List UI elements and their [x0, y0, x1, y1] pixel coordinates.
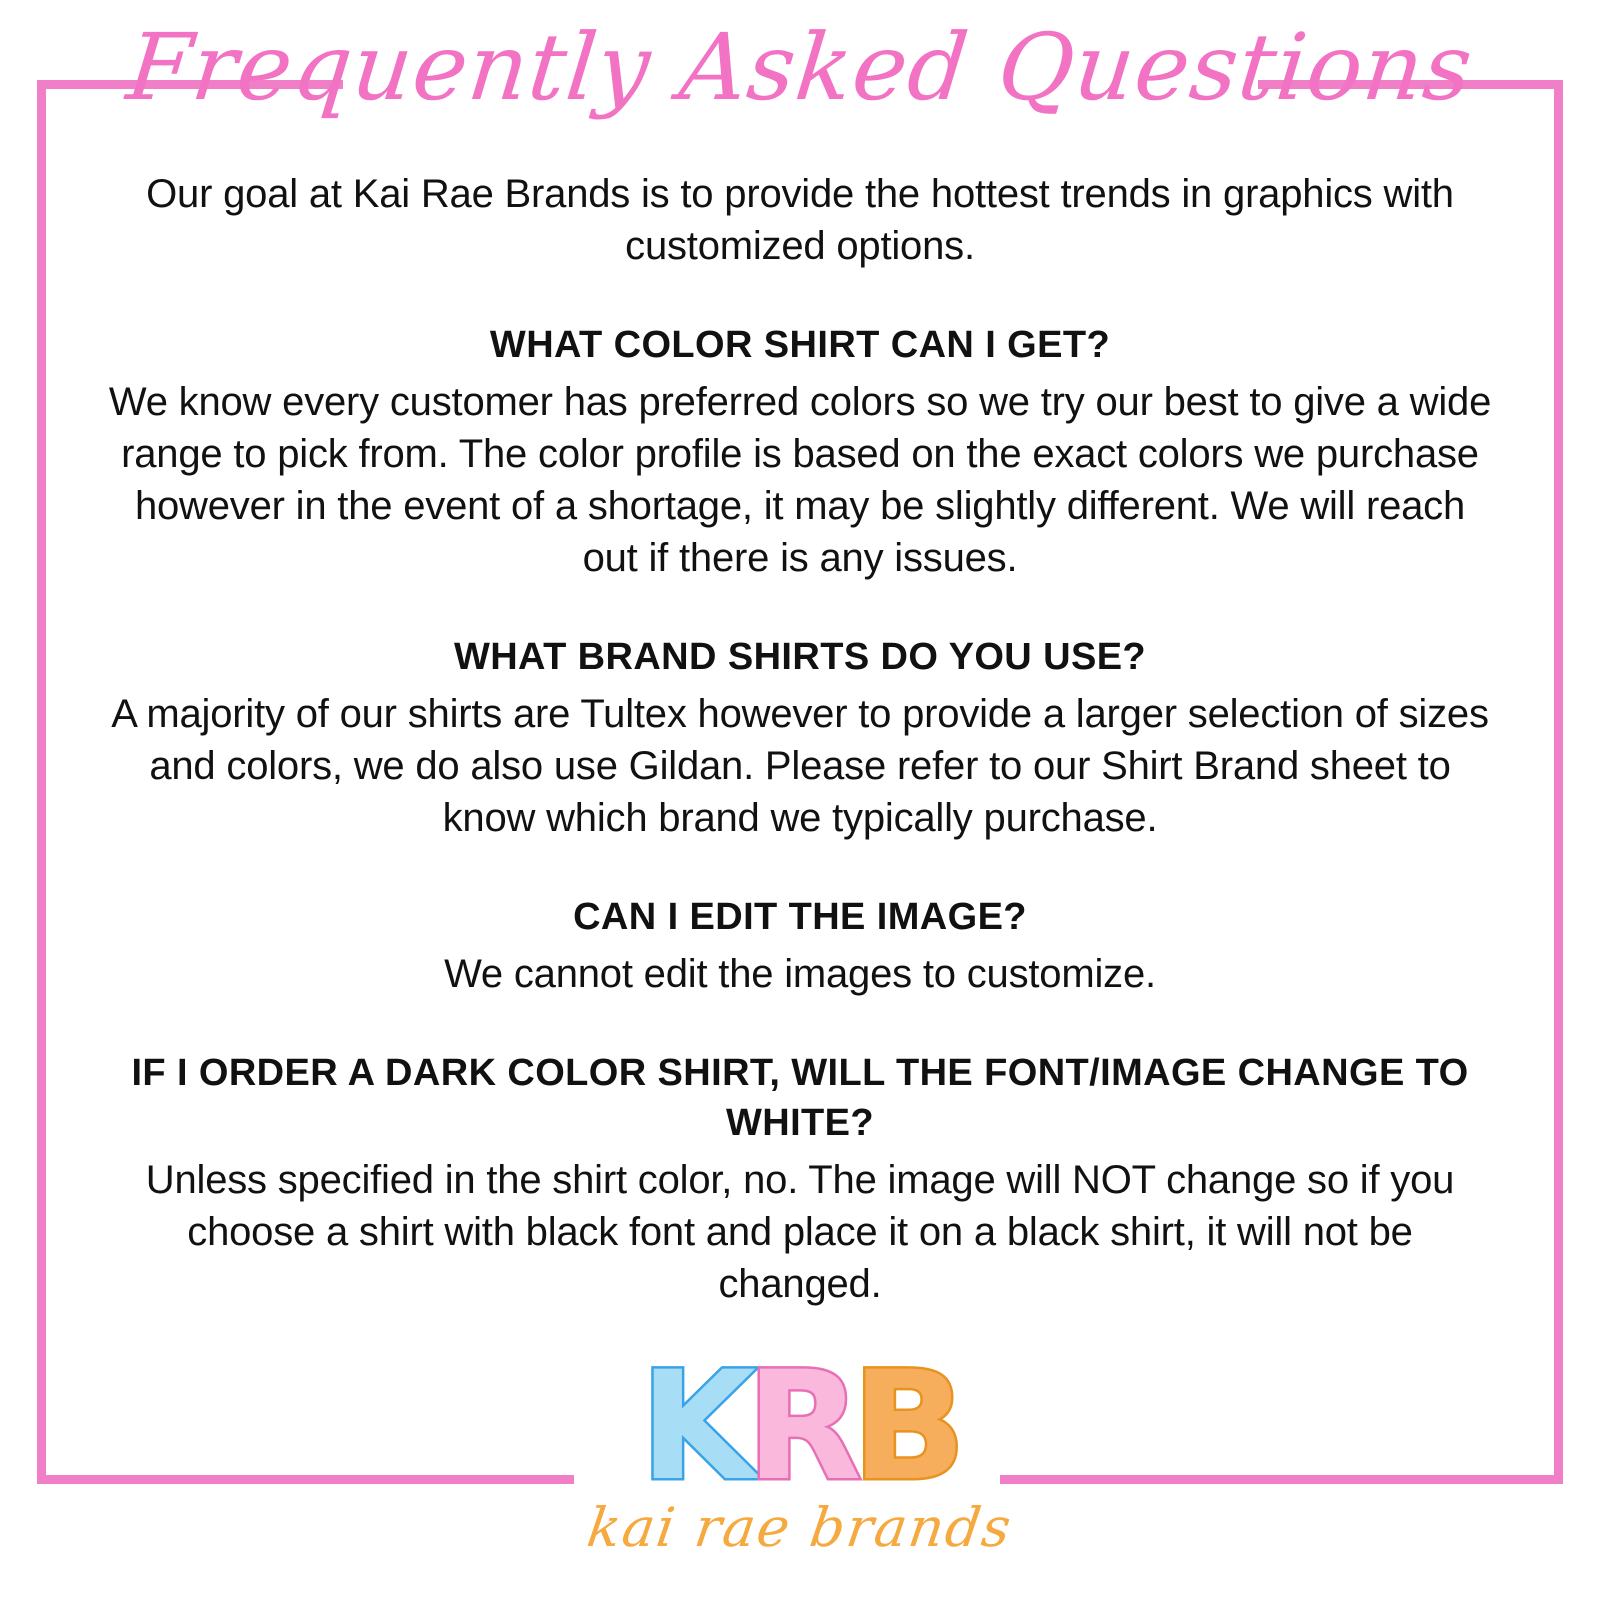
logo-letter-r: R	[746, 1352, 856, 1502]
logo-letter-b: B	[852, 1352, 960, 1502]
faq-content: Our goal at Kai Rae Brands is to provide…	[100, 168, 1500, 1310]
faq-item: WHAT COLOR SHIRT CAN I GET? We know ever…	[100, 320, 1500, 584]
faq-question: CAN I EDIT THE IMAGE?	[100, 892, 1500, 942]
logo-letters: KRB	[640, 1352, 960, 1502]
faq-page: Frequently Asked Questions Our goal at K…	[0, 0, 1600, 1600]
page-title: Frequently Asked Questions	[0, 8, 1600, 128]
logo-letter-k: K	[640, 1352, 750, 1502]
faq-list: WHAT COLOR SHIRT CAN I GET? We know ever…	[100, 320, 1500, 1310]
frame-border-left	[37, 80, 46, 1484]
faq-answer: We cannot edit the images to customize.	[100, 948, 1500, 1000]
faq-answer: A majority of our shirts are Tultex howe…	[100, 688, 1500, 844]
logo-wordmark: kai rae brands	[584, 1496, 1017, 1559]
faq-question: WHAT COLOR SHIRT CAN I GET?	[100, 320, 1500, 370]
faq-item: WHAT BRAND SHIRTS DO YOU USE? A majority…	[100, 632, 1500, 844]
faq-question: WHAT BRAND SHIRTS DO YOU USE?	[100, 632, 1500, 682]
frame-border-right	[1554, 80, 1563, 1484]
faq-question: IF I ORDER A DARK COLOR SHIRT, WILL THE …	[100, 1048, 1500, 1148]
brand-logo: KRB kai rae brands	[0, 1352, 1600, 1559]
intro-paragraph: Our goal at Kai Rae Brands is to provide…	[100, 168, 1500, 272]
faq-answer: We know every customer has preferred col…	[100, 376, 1500, 584]
faq-answer: Unless specified in the shirt color, no.…	[100, 1154, 1500, 1310]
faq-item: IF I ORDER A DARK COLOR SHIRT, WILL THE …	[100, 1048, 1500, 1310]
faq-item: CAN I EDIT THE IMAGE? We cannot edit the…	[100, 892, 1500, 1000]
